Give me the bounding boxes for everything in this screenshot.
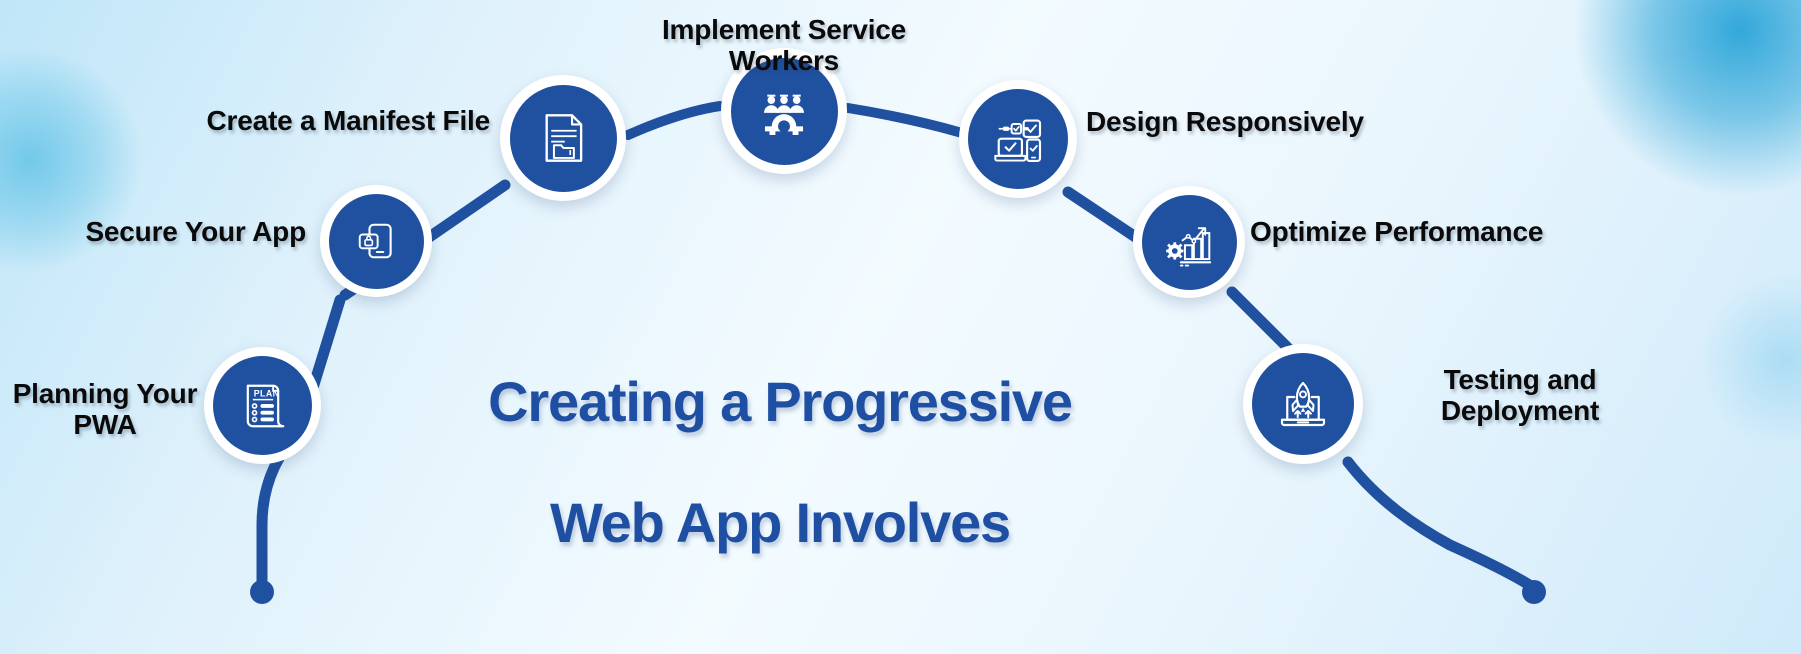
page-title: Creating a Progressive Web App Involves [400,312,1160,614]
label-optimize-performance: Optimize Performance [1250,216,1650,247]
label-planning-your-pwa: Planning Your PWA [10,378,200,441]
connector-segment-4 [1068,192,1140,240]
connector-segment-3 [848,108,962,133]
page-title-line-2: Web App Involves [400,493,1160,553]
connector-segment-end [1348,462,1534,588]
secure-mobile-device-icon [350,215,402,267]
label-design-responsively: Design Responsively [1086,106,1446,137]
label-create-a-manifest-file: Create a Manifest File [170,105,490,136]
node-planning-your-pwa[interactable]: PLAN [204,347,321,464]
label-testing-and-deployment: Testing and Deployment [1370,364,1670,427]
label-implement-service-workers: Implement Service Workers [604,14,964,77]
multi-device-check-icon [991,112,1046,167]
connector-segment-2 [628,106,720,135]
node-create-a-manifest-file[interactable] [500,75,626,201]
plan-document-icon: PLAN [236,379,290,433]
rocket-laptop-icon [1275,376,1331,432]
bar-chart-growth-gear-icon [1163,216,1215,268]
endpoint-dot-left [250,580,274,604]
node-design-responsively[interactable] [959,80,1077,198]
infographic-canvas: PLAN Planning Your PWA Secure Your App [0,0,1801,654]
node-optimize-performance[interactable] [1133,186,1245,298]
label-secure-your-app: Secure Your App [56,216,306,247]
endpoint-dot-right [1522,580,1546,604]
workers-gear-icon [755,82,813,140]
page-title-line-1: Creating a Progressive [400,372,1160,432]
svg-text:PLAN: PLAN [253,388,279,398]
node-secure-your-app[interactable] [320,185,432,297]
node-testing-and-deployment[interactable] [1243,344,1363,464]
document-folder-icon [534,109,592,167]
